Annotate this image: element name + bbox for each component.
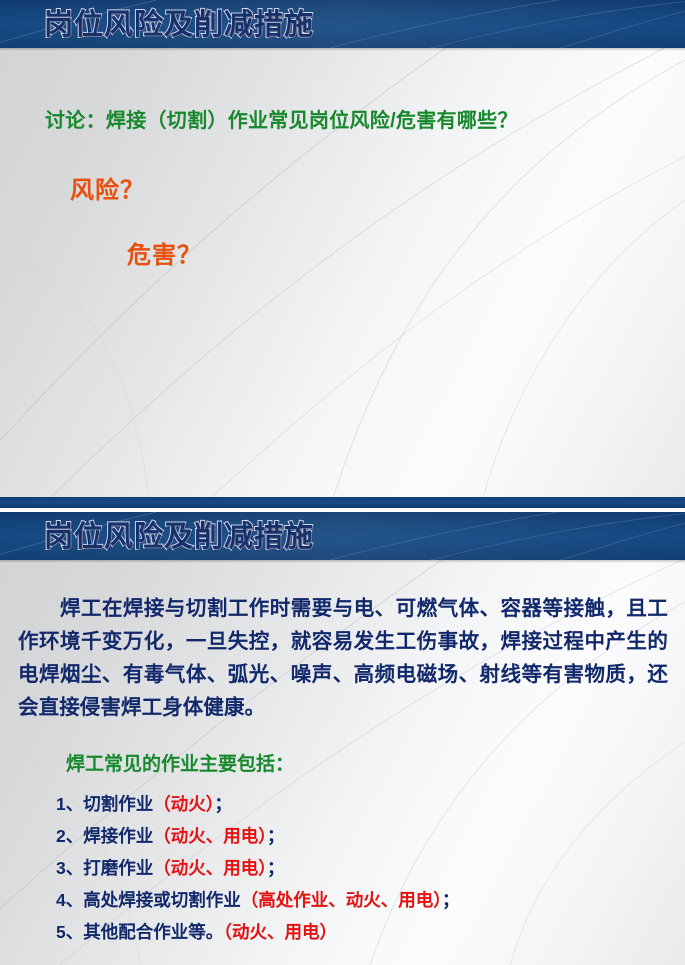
list-item-terminator: ； [442,890,460,910]
slide-2-title: 岗位风险及削减措施 [44,519,314,555]
list-item-terminator: ； [267,858,285,878]
list-item-label: 高处焊接或切割作业 [83,890,241,910]
list-item-label: 其他配合作业等。 [83,922,223,942]
slide-1-question-risk: 风险？ [70,170,145,205]
list-item-label: 打磨作业 [83,858,153,878]
slide-deck: 岗位风险及削减措施 讨论：焊接（切割）作业常见岗位风险/危害有哪些？ 风险？ 危… [0,0,685,965]
slide-1-title: 岗位风险及削减措施 [44,7,314,43]
list-item: 1、切割作业（动火）； [56,788,656,820]
background-arcs [0,0,685,508]
list-item-hazard-tag: （动火） [153,794,214,814]
slide-2-operation-list: 1、切割作业（动火）；2、焊接作业（动火、用电）；3、打磨作业（动火、用电）；4… [56,788,656,948]
list-item-number: 4、 [56,890,83,910]
list-item-label: 焊接作业 [83,826,153,846]
list-item-terminator: ； [214,794,232,814]
list-item-terminator: ； [267,826,285,846]
slide-1-footer-bar [0,497,685,508]
list-item: 3、打磨作业（动火、用电）； [56,852,656,884]
slide-1-discussion-text: 讨论：焊接（切割）作业常见岗位风险/危害有哪些？ [45,104,518,133]
list-item-number: 2、 [56,826,83,846]
list-item-label: 切割作业 [83,794,153,814]
list-item-number: 5、 [56,922,83,942]
slide-1: 岗位风险及削减措施 讨论：焊接（切割）作业常见岗位风险/危害有哪些？ 风险？ 危… [0,0,685,508]
list-item: 2、焊接作业（动火、用电）； [56,820,656,852]
slide-1-title-band: 岗位风险及削减措施 [0,0,685,48]
list-item-hazard-tag: （动火、用电） [223,922,337,942]
slide-2-paragraph: 焊工在焊接与切割工作时需要与电、可燃气体、容器等接触，且工作环境千变万化，一旦失… [18,592,668,724]
list-item-hazard-tag: （动火、用电） [153,826,267,846]
list-item-hazard-tag: （动火、用电） [153,858,267,878]
slide-2-title-shadow [0,560,685,563]
list-item: 4、高处焊接或切割作业（高处作业、动火、用电）； [56,884,656,916]
list-item-hazard-tag: （高处作业、动火、用电） [241,890,442,910]
list-item-number: 1、 [56,794,83,814]
slide-2-title-band: 岗位风险及削减措施 [0,512,685,560]
list-item-number: 3、 [56,858,83,878]
slide-1-question-harm: 危害？ [127,235,202,270]
slide-2-subheading: 焊工常见的作业主要包括： [66,749,294,776]
slide-2: 岗位风险及削减措施 焊工在焊接与切割工作时需要与电、可燃气体、容器等接触，且工作… [0,512,685,965]
slide-1-title-shadow [0,48,685,51]
list-item: 5、其他配合作业等。（动火、用电） [56,916,656,948]
